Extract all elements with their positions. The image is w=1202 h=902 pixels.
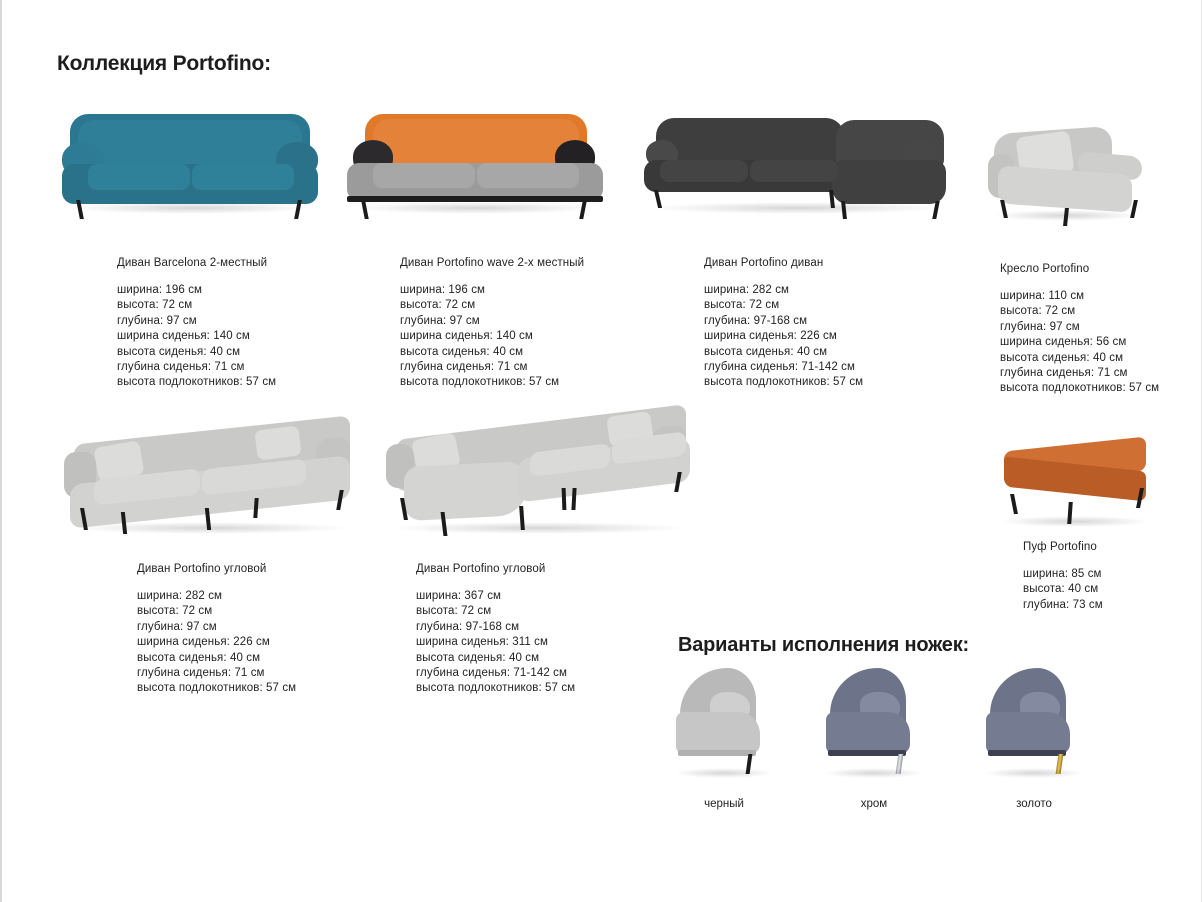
- sofa-pillow-right: [254, 425, 301, 460]
- product-image-divan-portofino-uglovoy-282: [60, 412, 370, 540]
- spec-armrest-height: высота подлокотников: 57 см: [137, 681, 370, 696]
- spec-depth: глубина: 97 см: [137, 620, 370, 635]
- product-name: Диван Barcelona 2-местный: [117, 257, 362, 269]
- spec-seat-depth: глубина сиденья: 71 см: [1000, 366, 1182, 381]
- sofa-leg-rear: [253, 498, 258, 518]
- sofa-plinth: [347, 196, 603, 202]
- image-shadow: [355, 202, 597, 214]
- spec-seat-depth: глубина сиденья: 71-142 см: [704, 360, 952, 375]
- spec-depth: глубина: 73 см: [1023, 598, 1192, 613]
- spec-armrest-height: высота подлокотников: 57 см: [1000, 381, 1182, 396]
- spec-seat-height: высота сиденья: 40 см: [117, 345, 362, 360]
- product-specs: ширина: 367 см высота: 72 см глубина: 97…: [416, 589, 700, 697]
- product-card-divan-portofino-divan[interactable]: Диван Portofino диван ширина: 282 см выс…: [642, 108, 952, 391]
- product-card-divan-portofino-uglovoy-282[interactable]: Диван Portofino угловой ширина: 282 см в…: [60, 412, 370, 697]
- product-image-divan-portofino-divan: [642, 108, 952, 220]
- spec-width: ширина: 85 см: [1023, 567, 1192, 582]
- product-specs: ширина: 282 см высота: 72 см глубина: 97…: [704, 283, 952, 391]
- spec-seat-depth: глубина сиденья: 71 см: [117, 360, 362, 375]
- spec-seat-width: ширина сиденья: 140 см: [400, 329, 647, 344]
- sofa-cushion-right: [750, 160, 838, 182]
- leg-variant-seat: [676, 712, 760, 754]
- leg-variant-shadow: [984, 768, 1084, 778]
- product-specs: ширина: 85 см высота: 40 см глубина: 73 …: [1023, 567, 1192, 613]
- spec-armrest-height: высота подлокотников: 57 см: [416, 681, 700, 696]
- spec-width: ширина: 367 см: [416, 589, 700, 604]
- image-shadow: [1000, 516, 1150, 527]
- sofa-leg-chaise-front-right: [519, 506, 525, 530]
- product-specs: ширина: 282 см высота: 72 см глубина: 97…: [137, 589, 370, 697]
- spec-depth: глубина: 97 см: [1000, 320, 1182, 335]
- product-card-divan-portofino-wave-2[interactable]: Диван Portofino wave 2-х местный ширина:…: [347, 108, 647, 391]
- spec-depth: глубина: 97-168 см: [704, 314, 952, 329]
- product-name: Диван Portofino угловой: [137, 563, 370, 575]
- product-card-kreslo-portofino[interactable]: Кресло Portofino ширина: 110 см высота: …: [982, 118, 1182, 397]
- sofa-cushion-left: [373, 163, 475, 188]
- sofa-backrest-inner: [373, 119, 579, 169]
- product-name: Пуф Portofino: [1023, 541, 1192, 553]
- spec-armrest-height: высота подлокотников: 57 см: [704, 375, 952, 390]
- spec-width: ширина: 196 см: [117, 283, 362, 298]
- spec-seat-depth: глубина сиденья: 71 см: [400, 360, 647, 375]
- product-name: Кресло Portofino: [1000, 263, 1182, 275]
- spec-height: высота: 40 см: [1023, 582, 1192, 597]
- armchair-seat: [998, 165, 1132, 212]
- leg-variant-black[interactable]: [674, 668, 784, 778]
- spec-width: ширина: 110 см: [1000, 289, 1182, 304]
- sofa-leg-mid-b: [571, 488, 576, 510]
- product-image-divan-portofino-wave-2: [347, 108, 647, 220]
- spec-width: ширина: 196 см: [400, 283, 647, 298]
- spec-height: высота: 72 см: [1000, 304, 1182, 319]
- leg-variant-label-black: черный: [674, 798, 774, 810]
- spec-seat-height: высота сиденья: 40 см: [400, 345, 647, 360]
- spec-seat-height: высота сиденья: 40 см: [1000, 351, 1182, 366]
- leg-variant-gold[interactable]: [984, 668, 1094, 778]
- spec-height: высота: 72 см: [704, 298, 952, 313]
- spec-depth: глубина: 97 см: [400, 314, 647, 329]
- spec-seat-height: высота сиденья: 40 см: [416, 651, 700, 666]
- leg-variant-shadow: [824, 768, 924, 778]
- spec-height: высота: 72 см: [117, 298, 362, 313]
- product-name: Диван Portofino wave 2-х местный: [400, 257, 647, 269]
- sofa-leg-right: [932, 201, 939, 219]
- product-card-divan-barcelona-2[interactable]: Диван Barcelona 2-местный ширина: 196 см…: [62, 108, 362, 391]
- spec-seat-height: высота сиденья: 40 см: [137, 651, 370, 666]
- leg-variant-plinth: [988, 750, 1066, 756]
- product-image-divan-barcelona-2: [62, 108, 362, 220]
- product-image-divan-portofino-uglovoy-367: [380, 406, 700, 542]
- spec-armrest-height: высота подлокотников: 57 см: [400, 375, 647, 390]
- sofa-cushion-right: [477, 163, 579, 188]
- product-card-puf-portofino[interactable]: Пуф Portofino ширина: 85 см высота: 40 с…: [992, 436, 1192, 613]
- product-specs: ширина: 196 см высота: 72 см глубина: 97…: [400, 283, 647, 391]
- spec-depth: глубина: 97 см: [117, 314, 362, 329]
- product-specs: ширина: 110 см высота: 72 см глубина: 97…: [1000, 289, 1182, 397]
- page-title: Коллекция Portofino:: [57, 52, 271, 76]
- product-card-divan-portofino-uglovoy-367[interactable]: Диван Portofino угловой ширина: 367 см в…: [380, 406, 700, 697]
- pouf-leg-left: [1010, 494, 1018, 514]
- spec-height: высота: 72 см: [137, 604, 370, 619]
- product-image-kreslo-portofino: [982, 118, 1182, 226]
- spec-seat-width: ширина сиденья: 226 см: [704, 329, 952, 344]
- sofa-cushion-left: [88, 164, 190, 190]
- product-image-puf-portofino: [992, 436, 1192, 532]
- leg-variant-chrome[interactable]: [824, 668, 934, 778]
- product-specs: ширина: 196 см высота: 72 см глубина: 97…: [117, 283, 362, 391]
- leg-variant-label-chrome: хром: [824, 798, 924, 810]
- catalog-page: Коллекция Portofino: Диван Barcelona 2-м…: [0, 0, 1202, 902]
- spec-width: ширина: 282 см: [137, 589, 370, 604]
- spec-seat-height: высота сиденья: 40 см: [704, 345, 952, 360]
- spec-height: высота: 72 см: [416, 604, 700, 619]
- leg-variant-seat: [826, 712, 910, 754]
- spec-seat-width: ширина сиденья: 56 см: [1000, 335, 1182, 350]
- sofa-cushion-left: [660, 160, 748, 182]
- spec-seat-depth: глубина сиденья: 71-142 см: [416, 666, 700, 681]
- spec-width: ширина: 282 см: [704, 283, 952, 298]
- sofa-leg-mid-a: [562, 488, 567, 510]
- spec-seat-depth: глубина сиденья: 71 см: [137, 666, 370, 681]
- spec-seat-width: ширина сиденья: 226 см: [137, 635, 370, 650]
- spec-height: высота: 72 см: [400, 298, 647, 313]
- product-name: Диван Portofino диван: [704, 257, 952, 269]
- leg-variant-seat: [986, 712, 1070, 754]
- sofa-cushion-right: [192, 164, 294, 190]
- spec-seat-width: ширина сиденья: 140 см: [117, 329, 362, 344]
- sofa-chaise-seat: [404, 461, 528, 521]
- spec-armrest-height: высота подлокотников: 57 см: [117, 375, 362, 390]
- leg-variant-shadow: [674, 768, 774, 778]
- spec-depth: глубина: 97-168 см: [416, 620, 700, 635]
- leg-variant-label-gold: золото: [984, 798, 1084, 810]
- legs-section-title: Варианты исполнения ножек:: [678, 634, 969, 657]
- leg-variant-plinth: [828, 750, 906, 756]
- leg-variant-plinth: [678, 750, 756, 756]
- spec-seat-width: ширина сиденья: 311 см: [416, 635, 700, 650]
- sofa-leg-left: [654, 190, 662, 208]
- image-shadow: [390, 522, 686, 534]
- product-name: Диван Portofino угловой: [416, 563, 700, 575]
- sofa-chaise-seat: [832, 160, 946, 204]
